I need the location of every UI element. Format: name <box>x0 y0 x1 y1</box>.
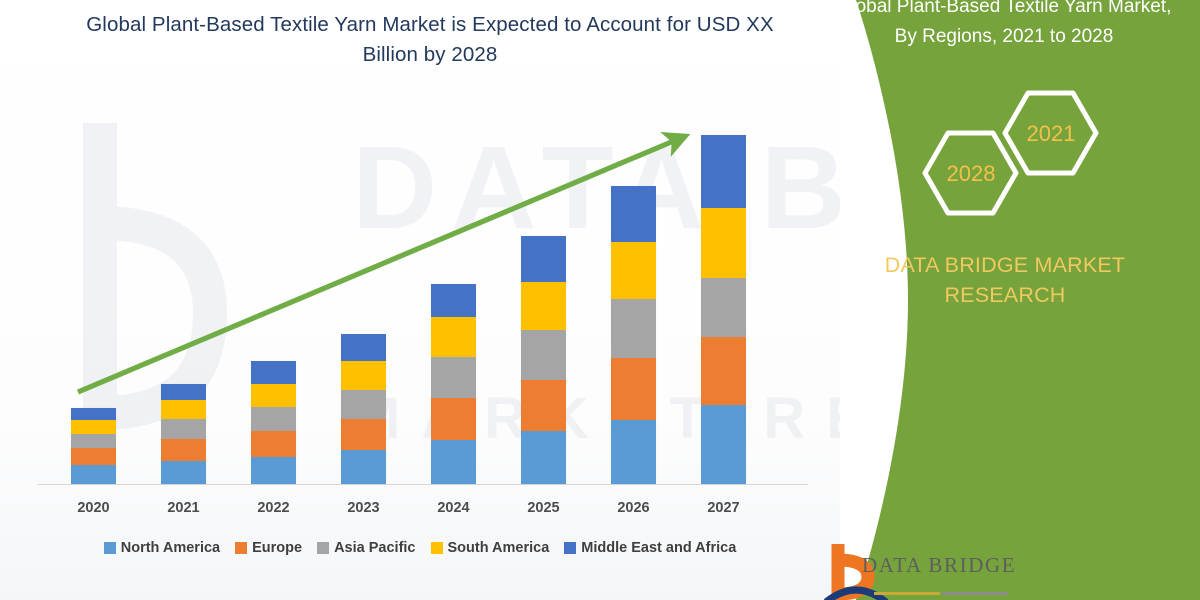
bar-segment-middle-east-and-africa-2027 <box>701 135 746 208</box>
x-axis-label-2027: 2027 <box>679 500 769 516</box>
bar-segment-north-america-2023 <box>341 450 386 484</box>
hexagon-outlines <box>900 85 1130 230</box>
brand-line-2: RESEARCH <box>830 280 1180 310</box>
bar-segment-middle-east-and-africa-2026 <box>611 186 656 242</box>
bar-segment-europe-2027 <box>701 337 746 405</box>
bar-2023 <box>341 334 386 484</box>
bar-segment-europe-2026 <box>611 358 656 420</box>
legend-swatch-asia-pacific <box>317 542 329 554</box>
legend-item-north-america[interactable]: North America <box>104 540 220 556</box>
x-axis-label-2020: 2020 <box>49 500 139 516</box>
bar-segment-asia-pacific-2025 <box>521 330 566 380</box>
bar-segment-north-america-2025 <box>521 431 566 484</box>
bar-segment-south-america-2024 <box>431 317 476 358</box>
bar-segment-asia-pacific-2024 <box>431 357 476 398</box>
legend-item-middle-east-and-africa[interactable]: Middle East and Africa <box>564 540 736 556</box>
legend-label-europe: Europe <box>252 540 302 556</box>
bar-segment-middle-east-and-africa-2025 <box>521 236 566 282</box>
legend-label-north-america: North America <box>121 540 220 556</box>
bar-segment-middle-east-and-africa-2020 <box>71 408 116 420</box>
bar-2022 <box>251 361 296 484</box>
bar-segment-south-america-2026 <box>611 242 656 299</box>
x-axis-label-2023: 2023 <box>319 500 409 516</box>
x-axis-label-2026: 2026 <box>589 500 679 516</box>
bar-segment-middle-east-and-africa-2021 <box>161 384 206 400</box>
bar-segment-middle-east-and-africa-2024 <box>431 284 476 317</box>
x-axis-line <box>38 484 808 485</box>
x-axis-label-2022: 2022 <box>229 500 319 516</box>
chart-panel: DATA BRIDGE MARKET RESEARCH Global Plant… <box>0 0 840 600</box>
bar-2026 <box>611 186 656 484</box>
bar-segment-asia-pacific-2020 <box>71 434 116 448</box>
bar-2021 <box>161 384 206 484</box>
panel-title: Global Plant-Based Textile Yarn Market, … <box>828 0 1180 52</box>
bar-segment-south-america-2023 <box>341 361 386 390</box>
bar-segment-asia-pacific-2022 <box>251 407 296 431</box>
legend-item-south-america[interactable]: South America <box>431 540 550 556</box>
legend-swatch-middle-east-and-africa <box>564 542 576 554</box>
branding-panel: Global Plant-Based Textile Yarn Market, … <box>800 0 1200 600</box>
bar-segment-asia-pacific-2023 <box>341 390 386 419</box>
bar-segment-north-america-2021 <box>161 461 206 484</box>
branding-content: Global Plant-Based Textile Yarn Market, … <box>800 0 1200 600</box>
legend-item-asia-pacific[interactable]: Asia Pacific <box>317 540 415 556</box>
hex-label-2021: 2021 <box>996 121 1106 147</box>
bar-segment-asia-pacific-2027 <box>701 278 746 338</box>
market-chart-infographic: DATA BRIDGE MARKET RESEARCH Global Plant… <box>0 0 1200 600</box>
bar-segment-asia-pacific-2026 <box>611 299 656 359</box>
bar-segment-europe-2020 <box>71 448 116 465</box>
bar-2024 <box>431 284 476 484</box>
bar-segment-south-america-2020 <box>71 420 116 434</box>
legend-label-middle-east-and-africa: Middle East and Africa <box>581 540 736 556</box>
legend-label-south-america: South America <box>448 540 550 556</box>
legend-swatch-north-america <box>104 542 116 554</box>
legend-swatch-europe <box>235 542 247 554</box>
bar-2025 <box>521 236 566 484</box>
bar-segment-europe-2022 <box>251 431 296 457</box>
bar-segment-middle-east-and-africa-2022 <box>251 361 296 384</box>
legend-label-asia-pacific: Asia Pacific <box>334 540 415 556</box>
bar-2020 <box>71 408 116 484</box>
bar-segment-middle-east-and-africa-2023 <box>341 334 386 361</box>
chart-legend: North AmericaEuropeAsia PacificSouth Ame… <box>40 540 800 556</box>
legend-swatch-south-america <box>431 542 443 554</box>
brand-name: DATA BRIDGE MARKET RESEARCH <box>830 250 1180 310</box>
x-axis-label-2024: 2024 <box>409 500 499 516</box>
plot-area: 20202021202220232024202520262027 <box>0 0 840 600</box>
bar-segment-europe-2025 <box>521 380 566 431</box>
bar-segment-south-america-2021 <box>161 400 206 419</box>
x-axis-label-2025: 2025 <box>499 500 589 516</box>
bar-segment-north-america-2027 <box>701 405 746 484</box>
hex-label-2028: 2028 <box>916 161 1026 187</box>
hexagon-group: 2028 2021 <box>900 85 1130 230</box>
logo-text: DATA BRIDGE <box>862 553 1016 578</box>
bar-segment-south-america-2027 <box>701 208 746 278</box>
x-axis-label-2021: 2021 <box>139 500 229 516</box>
bar-segment-north-america-2026 <box>611 420 656 484</box>
bar-segment-south-america-2025 <box>521 282 566 331</box>
bar-segment-south-america-2022 <box>251 384 296 407</box>
bar-segment-north-america-2024 <box>431 440 476 484</box>
bar-segment-europe-2023 <box>341 419 386 450</box>
bar-segment-asia-pacific-2021 <box>161 419 206 439</box>
bar-2027 <box>701 135 746 484</box>
bar-segment-north-america-2020 <box>71 465 116 484</box>
brand-line-1: DATA BRIDGE MARKET <box>830 250 1180 280</box>
bar-segment-europe-2021 <box>161 439 206 461</box>
bar-segment-europe-2024 <box>431 398 476 440</box>
legend-item-europe[interactable]: Europe <box>235 540 302 556</box>
bar-segment-north-america-2022 <box>251 457 296 484</box>
